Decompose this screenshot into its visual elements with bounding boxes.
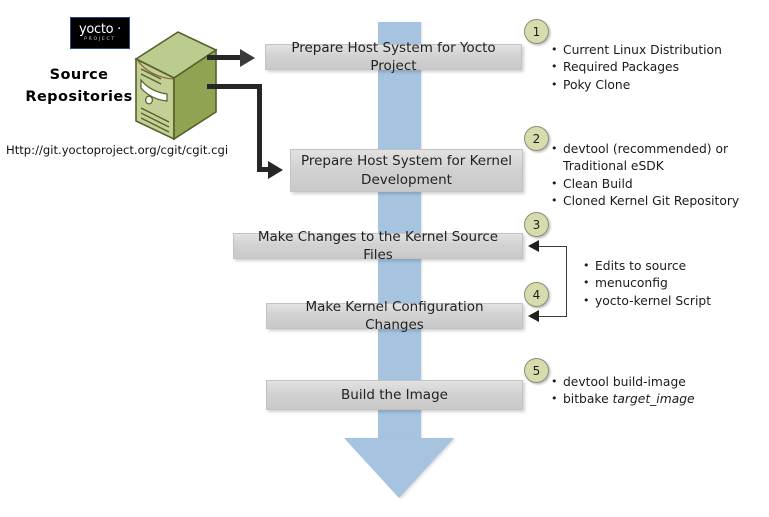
bullet-item: Edits to source xyxy=(583,258,711,275)
step-box-5[interactable]: Build the Image xyxy=(266,380,523,410)
step-3-4-bullets: Edits to source menuconfig yocto-kernel … xyxy=(583,258,711,310)
bullet-item: Poky Clone xyxy=(551,77,722,94)
logo-wordmark: yocto · xyxy=(79,23,121,36)
feedback-bracket-top xyxy=(539,246,567,247)
bullet-item: Required Packages xyxy=(551,59,722,76)
connector-server-to-step2-vertical xyxy=(257,84,262,172)
step-number-1: 1 xyxy=(524,19,549,44)
flow-arrow-head xyxy=(344,438,454,498)
connector-arrowhead-step2 xyxy=(268,161,283,179)
step-box-3[interactable]: Make Changes to the Kernel Source Files xyxy=(233,233,523,259)
bullet-item: devtool (recommended) or xyxy=(551,141,739,158)
bullet-item-continuation: Traditional eSDK xyxy=(551,158,739,175)
connector-arrowhead-step1 xyxy=(240,49,255,67)
feedback-bracket-vertical xyxy=(566,246,567,317)
step-box-4[interactable]: Make Kernel Configuration Changes xyxy=(266,303,523,329)
source-repositories-label: Source Repositories xyxy=(14,65,144,109)
logo-subtitle: PROJECT xyxy=(84,38,116,43)
connector-server-to-step2-top xyxy=(207,84,262,89)
diagram-canvas: yocto · PROJECT Source Repositories Http… xyxy=(0,0,769,517)
step-number-5: 5 xyxy=(524,358,549,383)
bullet-item: devtool build-image xyxy=(551,374,695,391)
bullet-item-emphasis: target_image xyxy=(613,392,695,406)
bullet-item: Clean Build xyxy=(551,176,739,193)
yocto-project-logo: yocto · PROJECT xyxy=(70,17,130,49)
step-box-1[interactable]: Prepare Host System for Yocto Project xyxy=(265,44,522,70)
feedback-arrowhead-step3 xyxy=(528,240,539,252)
bullet-item: Cloned Kernel Git Repository xyxy=(551,193,739,210)
feedback-bracket-bottom xyxy=(539,316,567,317)
step-5-bullets: devtool build-image bitbake target_image xyxy=(551,374,695,409)
feedback-arrowhead-step4 xyxy=(528,310,539,322)
step-2-bullets: devtool (recommended) or Traditional eSD… xyxy=(551,141,739,211)
bullet-item-text: bitbake xyxy=(563,392,613,406)
bullet-item: menuconfig xyxy=(583,275,711,292)
step-number-2: 2 xyxy=(524,126,549,151)
step-number-4: 4 xyxy=(524,282,549,307)
bullet-item-bitbake: bitbake target_image xyxy=(551,391,695,408)
bullet-item: yocto-kernel Script xyxy=(583,293,711,310)
step-box-2[interactable]: Prepare Host System for Kernel Developme… xyxy=(290,149,523,192)
step-number-3: 3 xyxy=(524,212,549,237)
bullet-item: Current Linux Distribution xyxy=(551,42,722,59)
step-1-bullets: Current Linux Distribution Required Pack… xyxy=(551,42,722,94)
